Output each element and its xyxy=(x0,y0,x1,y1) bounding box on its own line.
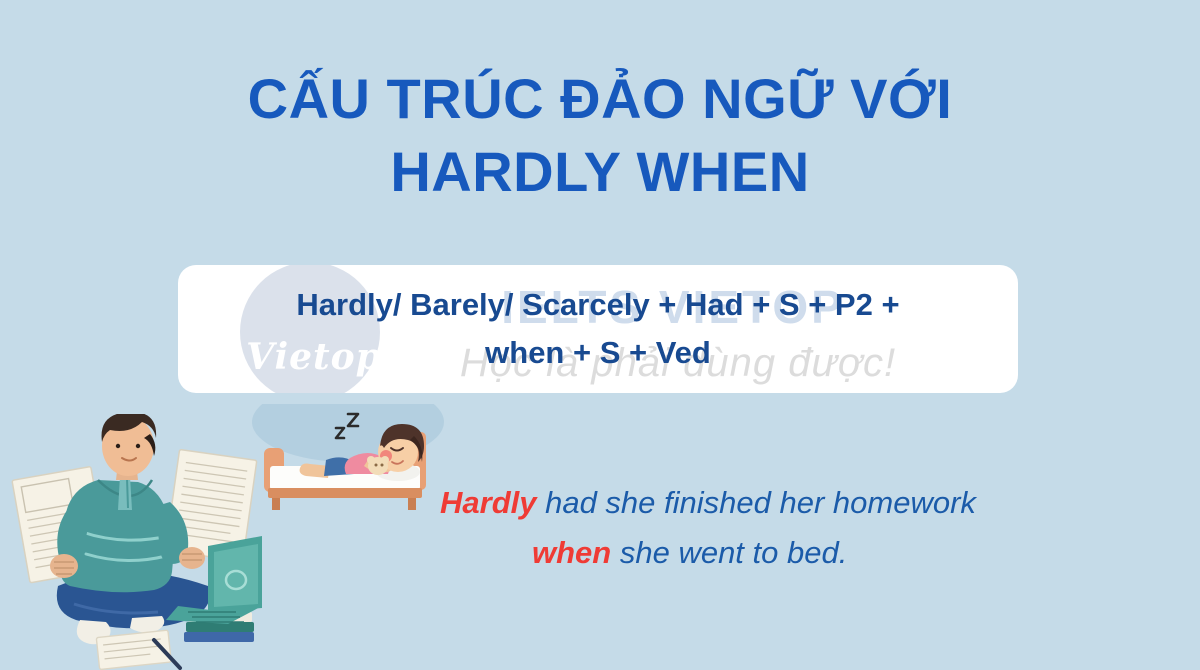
title-line-2: HARDLY WHEN xyxy=(0,135,1200,208)
example-line-1: Hardly had she finished her homework xyxy=(440,478,1170,528)
infographic-poster: CẤU TRÚC ĐẢO NGỮ VỚI HARDLY WHEN Vietop … xyxy=(0,0,1200,670)
example-line-2: when she went to bed. xyxy=(440,528,1170,578)
example-keyword-when: when xyxy=(532,535,611,570)
example-keyword-hardly: Hardly xyxy=(440,485,536,520)
example-sentence: Hardly had she finished her homework whe… xyxy=(440,478,1170,578)
formula-card: Vietop IELTS VIETOP Học là phải dùng đượ… xyxy=(178,265,1018,393)
example-line-1-rest: had she finished her homework xyxy=(536,485,975,520)
student-reading-papers-icon xyxy=(2,414,264,670)
formula-line-1: Hardly/ Barely/ Scarcely + Had + S + P2 … xyxy=(296,281,899,329)
child-sleeping-in-bed-icon xyxy=(252,404,448,514)
formula-line-2: when + S + Ved xyxy=(485,329,711,377)
example-line-2-rest: she went to bed. xyxy=(611,535,847,570)
title-line-1: CẤU TRÚC ĐẢO NGỮ VỚI xyxy=(0,62,1200,135)
page-title: CẤU TRÚC ĐẢO NGỮ VỚI HARDLY WHEN xyxy=(0,62,1200,208)
formula-text: Hardly/ Barely/ Scarcely + Had + S + P2 … xyxy=(178,265,1018,393)
